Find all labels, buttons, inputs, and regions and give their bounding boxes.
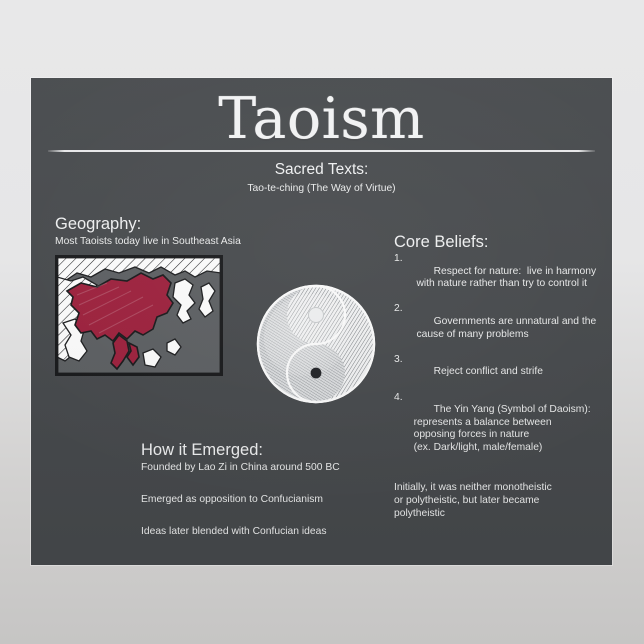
how-it-emerged-section: How it Emerged: Founded by Lao Zi in Chi… — [141, 440, 441, 538]
list-item-number: 4. — [394, 392, 403, 405]
how-it-emerged-line-3: Ideas later blended with Confucian ideas — [141, 525, 441, 538]
list-item-text: Reject conflict and strife — [434, 366, 543, 377]
list-item: 2.Governments are unnatural and the caus… — [394, 303, 606, 353]
how-it-emerged-line-2: Emerged as opposition to Confucianism — [141, 493, 441, 506]
yin-yang-icon — [255, 283, 377, 405]
geography-subtitle: Most Taoists today live in Southeast Asi… — [55, 235, 305, 248]
list-item-number: 2. — [394, 303, 403, 316]
how-it-emerged-line-1: Founded by Lao Zi in China around 500 BC — [141, 461, 441, 474]
poster-page: Taoism Sacred Texts: Tao-te-ching (The W… — [0, 0, 644, 644]
asia-map — [55, 255, 223, 376]
map-icon — [57, 257, 221, 374]
core-beliefs-list: 1.Respect for nature: live in harmony wi… — [394, 253, 606, 467]
list-item-text: Respect for nature: live in harmony with… — [405, 266, 596, 290]
list-item: 3.Reject conflict and strife — [394, 354, 606, 392]
geography-heading: Geography: — [55, 214, 305, 234]
core-beliefs-heading: Core Beliefs: — [394, 232, 606, 252]
list-item-text: Governments are unnatural and the cause … — [405, 316, 596, 340]
sacred-texts-section: Sacred Texts: Tao-te-ching (The Way of V… — [31, 160, 612, 195]
taoism-poster: Taoism Sacred Texts: Tao-te-ching (The W… — [31, 78, 612, 565]
sacred-texts-line: Tao-te-ching (The Way of Virtue) — [31, 182, 612, 195]
list-item-number: 3. — [394, 354, 403, 367]
list-item-number: 1. — [394, 253, 403, 266]
list-item: 1.Respect for nature: live in harmony wi… — [394, 253, 606, 303]
yin-yang-symbol — [255, 283, 377, 405]
sacred-texts-heading: Sacred Texts: — [31, 160, 612, 180]
geography-section: Geography: Most Taoists today live in So… — [55, 214, 305, 248]
title-divider — [48, 150, 595, 152]
page-title: Taoism — [31, 88, 612, 150]
how-it-emerged-heading: How it Emerged: — [141, 440, 441, 460]
